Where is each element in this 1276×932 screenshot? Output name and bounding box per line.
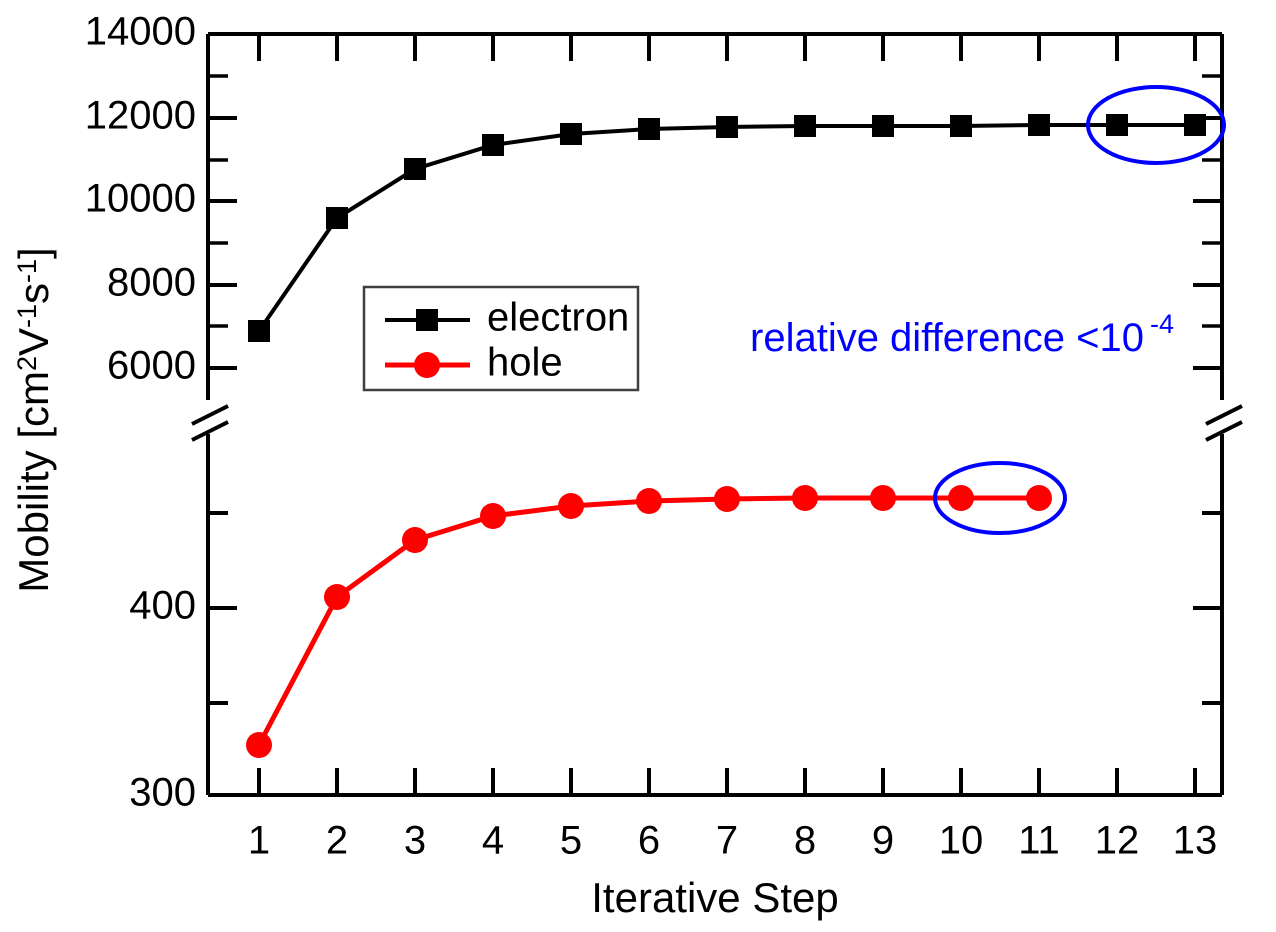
svg-text:Mobility [cm2V-1s-1]: Mobility [cm2V-1s-1] — [10, 247, 57, 592]
legend-label-hole: hole — [487, 341, 563, 385]
y-axis-title-prefix: Mobility [cm — [10, 371, 57, 593]
data-point-electron — [950, 115, 972, 137]
data-point-hole — [324, 584, 350, 610]
data-point-electron — [248, 320, 270, 342]
data-point-hole — [948, 485, 974, 511]
y-axis-title-mid-1: V — [10, 328, 57, 356]
y-tick-label-14000: 14000 — [85, 10, 196, 54]
axis-break-right-icon — [1206, 400, 1242, 440]
x-tick-label-6: 6 — [638, 819, 660, 863]
series-hole — [246, 485, 1052, 758]
y-axis-lower-ticks — [208, 513, 237, 703]
x-axis-ticks-top — [259, 34, 1195, 61]
series-hole-line — [259, 498, 1039, 745]
x-tick-label-8: 8 — [794, 819, 816, 863]
y-axis-upper-tick-labels: 14000 12000 10000 8000 6000 — [85, 10, 196, 388]
y-axis-title-suffix: ] — [10, 247, 57, 259]
data-point-hole — [870, 485, 896, 511]
x-tick-label-12: 12 — [1095, 819, 1140, 863]
x-tick-label-3: 3 — [404, 819, 426, 863]
data-point-electron — [1106, 114, 1128, 136]
data-point-electron — [716, 116, 738, 138]
x-tick-label-5: 5 — [560, 819, 582, 863]
x-tick-label-10: 10 — [939, 819, 984, 863]
y-axis-title: Mobility [cm2V-1s-1] — [10, 247, 57, 592]
relative-difference-exponent: -4 — [1150, 309, 1174, 339]
legend[interactable]: electron hole — [364, 287, 638, 390]
x-tick-label-13: 13 — [1173, 819, 1218, 863]
axis-break-left-icon — [192, 400, 228, 440]
x-tick-label-11: 11 — [1018, 819, 1060, 863]
x-tick-label-2: 2 — [326, 819, 348, 863]
data-point-electron — [404, 158, 426, 180]
data-point-hole — [480, 503, 506, 529]
y-axis-lower-ticks-right — [1193, 513, 1222, 703]
data-point-electron — [560, 123, 582, 145]
data-point-hole — [558, 493, 584, 519]
x-tick-label-4: 4 — [482, 819, 504, 863]
data-point-hole — [246, 732, 272, 758]
data-point-hole — [636, 488, 662, 514]
relative-difference-annotation: relative difference <10-4 — [750, 309, 1174, 359]
legend-marker-hole — [414, 352, 440, 378]
data-point-hole — [1026, 485, 1052, 511]
x-axis-tick-labels: 1 2 3 4 5 6 7 8 9 10 11 12 13 — [248, 819, 1217, 863]
y-axis-lower-tick-labels: 400 300 — [129, 584, 196, 815]
plot-frame — [208, 34, 1222, 795]
y-axis-title-sup-3: -1 — [12, 259, 42, 283]
data-point-electron — [1184, 114, 1206, 136]
x-tick-label-1: 1 — [248, 819, 270, 863]
y-tick-label-300: 300 — [129, 771, 196, 815]
data-point-electron — [1028, 114, 1050, 136]
data-point-electron — [482, 134, 504, 156]
legend-marker-electron — [416, 309, 438, 331]
x-tick-label-9: 9 — [872, 819, 894, 863]
y-axis-title-sup-2: -1 — [12, 304, 42, 328]
chart-figure: 14000 12000 10000 8000 6000 400 300 — [0, 0, 1276, 932]
data-point-electron — [326, 207, 348, 229]
relative-difference-main: relative difference <10 — [750, 316, 1144, 360]
y-tick-label-10000: 10000 — [85, 177, 196, 221]
data-point-electron — [638, 118, 660, 140]
data-point-electron — [794, 115, 816, 137]
data-point-hole — [402, 527, 428, 553]
y-axis-upper-ticks — [208, 76, 237, 368]
x-axis-ticks — [259, 768, 1195, 795]
mobility-convergence-chart: 14000 12000 10000 8000 6000 400 300 — [0, 0, 1276, 932]
y-axis-title-mid-2: s — [10, 283, 57, 304]
data-point-hole — [792, 485, 818, 511]
x-tick-label-7: 7 — [716, 819, 738, 863]
y-tick-label-6000: 6000 — [107, 344, 196, 388]
y-axis-title-sup-1: 2 — [12, 356, 42, 371]
y-tick-label-8000: 8000 — [107, 261, 196, 305]
legend-label-electron: electron — [487, 296, 629, 340]
y-tick-label-400: 400 — [129, 584, 196, 628]
y-tick-label-12000: 12000 — [85, 94, 196, 138]
data-point-hole — [714, 486, 740, 512]
x-axis-title: Iterative Step — [591, 874, 838, 921]
data-point-electron — [872, 115, 894, 137]
